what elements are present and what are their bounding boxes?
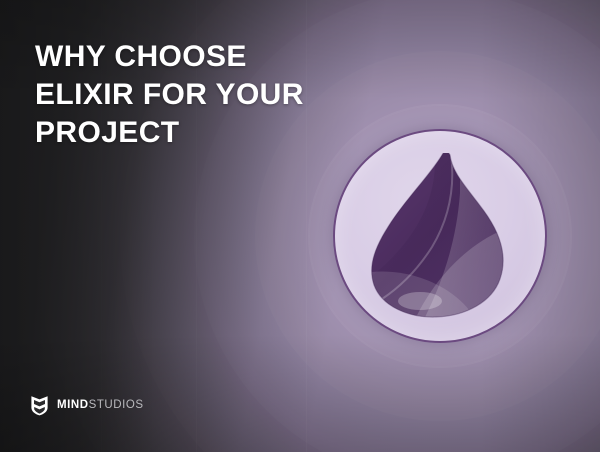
elixir-logo xyxy=(333,129,547,343)
mind-studios-shield-icon xyxy=(30,395,49,416)
brand-name-bold: MIND xyxy=(57,399,89,411)
brand-wordmark: MINDSTUDIOS xyxy=(57,400,144,412)
brand-name-light: STUDIOS xyxy=(89,399,144,411)
presentation-slide: WHY CHOOSE ELIXIR FOR YOUR PROJECT xyxy=(0,0,600,452)
elixir-drop-icon xyxy=(364,153,514,319)
brand-logo: MINDSTUDIOS xyxy=(30,395,144,416)
slide-title: WHY CHOOSE ELIXIR FOR YOUR PROJECT xyxy=(35,38,355,152)
